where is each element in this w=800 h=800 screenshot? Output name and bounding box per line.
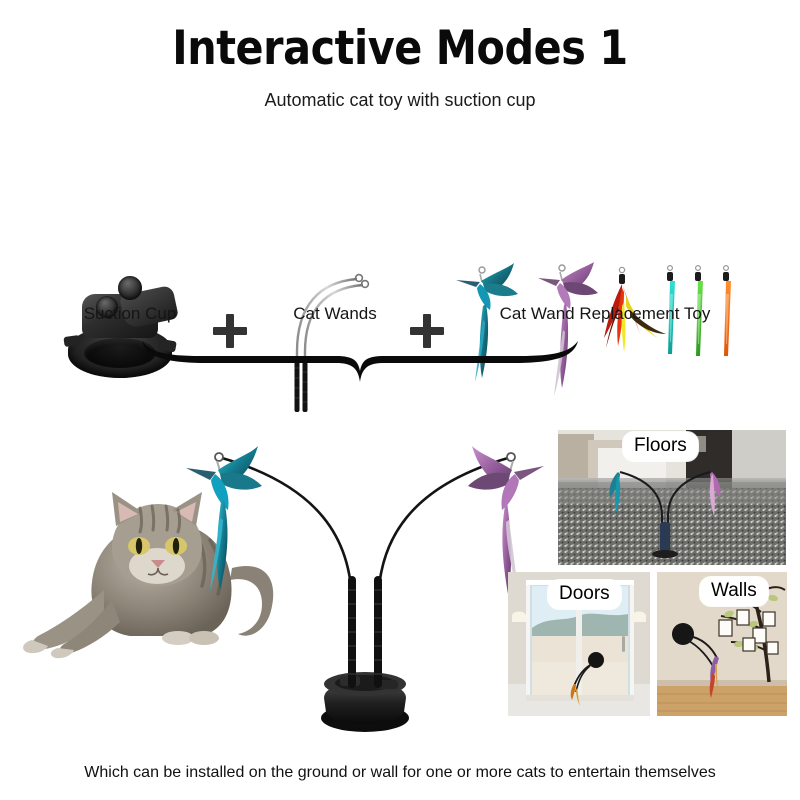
page-title: Interactive Modes 1 — [48, 21, 752, 77]
component-label-suction-cup: Suction Cup — [20, 303, 240, 325]
usage-photo-label-floors: Floors — [623, 432, 698, 461]
component-label-cat-wands: Cat Wands — [225, 303, 445, 325]
cat-illustration — [23, 492, 273, 658]
component-label-replacement-toy: Cat Wand Replacement Toy — [440, 303, 770, 325]
infographic-page: Interactive Modes 1 Automatic cat toy wi… — [0, 0, 800, 800]
component-row — [0, 128, 800, 278]
usage-photo-label-walls: Walls — [700, 577, 768, 606]
curly-brace-icon — [140, 338, 580, 386]
footer-caption: Which can be installed on the ground or … — [0, 762, 800, 784]
suction-cup-base — [321, 672, 409, 732]
usage-photo-label-doors: Doors — [548, 580, 621, 609]
page-subtitle: Automatic cat toy with suction cup — [0, 88, 800, 112]
